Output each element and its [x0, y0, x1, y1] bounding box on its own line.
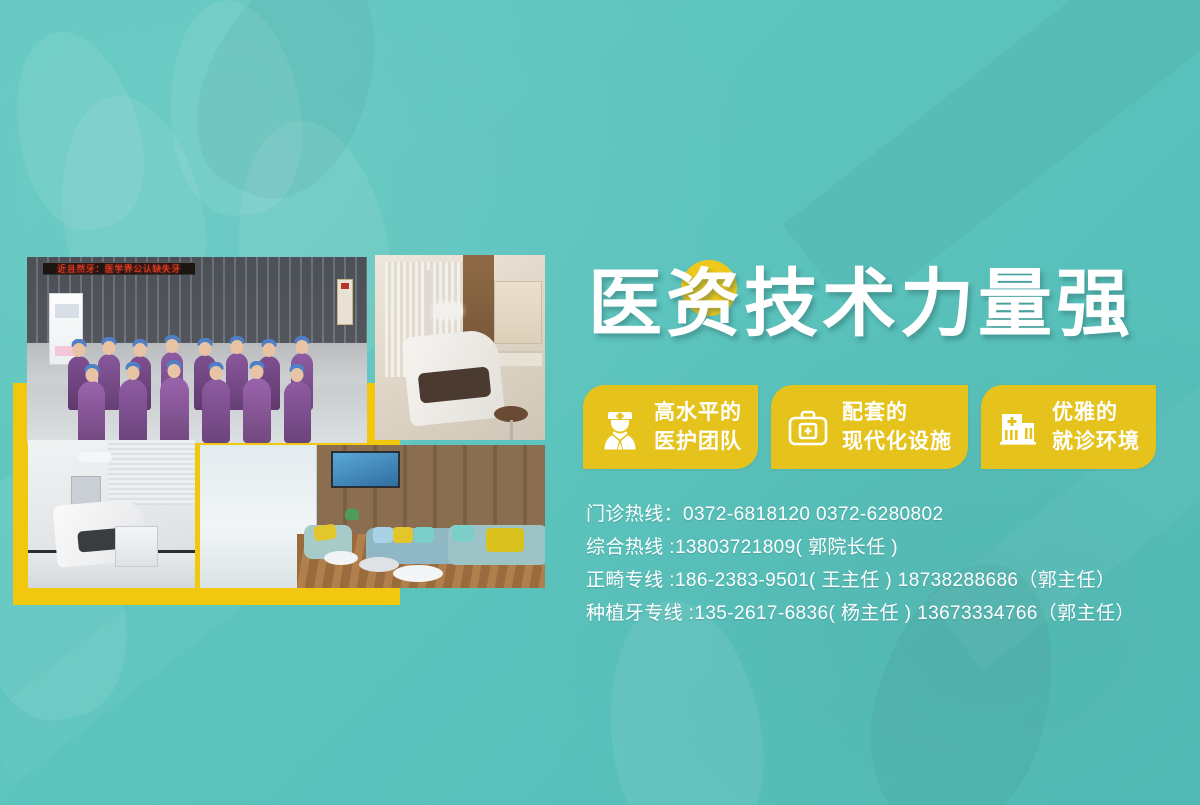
- staff-member: [78, 381, 105, 443]
- contact-line-outpatient: 门诊热线：0372-6818120 0372-6280802: [586, 498, 1186, 531]
- dental-lamp-head: [433, 303, 463, 319]
- staff-member: [160, 377, 189, 443]
- wall-cabinet: [494, 281, 542, 344]
- medical-kit-icon: [785, 402, 831, 452]
- badge-line-2: 医护团队: [654, 430, 742, 453]
- hospital-building-icon: [995, 402, 1041, 452]
- feature-badge-list: 高水平的 医护团队 配套的 现代化设施: [583, 385, 1156, 469]
- contact-line-orthodontics: 正畸专线 :186-2383-9501( 王主任 ) 18738288686（郭…: [586, 564, 1186, 597]
- cushion: [313, 524, 337, 542]
- cushion: [414, 527, 434, 543]
- photo-collage: 近且然牙：医学界公认缺失牙: [0, 0, 560, 805]
- treatment-room-photo: [28, 440, 195, 588]
- staff-front-row: [27, 361, 367, 443]
- feature-badge-environment[interactable]: 优雅的 就诊环境: [981, 385, 1156, 469]
- nurse-icon: [597, 402, 643, 452]
- coffee-table: [359, 557, 399, 572]
- potted-plant: [345, 508, 359, 520]
- badge-line-1: 高水平的: [654, 401, 742, 424]
- feature-badge-medical-team[interactable]: 高水平的 医护团队: [583, 385, 758, 469]
- cushion: [373, 527, 393, 543]
- staff-member: [243, 378, 271, 443]
- contact-line-implant: 种植牙专线 :135-2617-6836( 杨主任 ) 13673334766（…: [586, 597, 1186, 630]
- content-column: 医资技术力量强 高水平的: [578, 0, 1200, 805]
- staff-member: [119, 379, 147, 443]
- wall-tv: [331, 451, 400, 488]
- feature-badge-label: 高水平的 医护团队: [654, 398, 742, 456]
- contact-list: 门诊热线：0372-6818120 0372-6280802 综合热线 :138…: [586, 498, 1186, 630]
- cushion: [393, 527, 413, 543]
- page-title: 医资技术力量强: [588, 255, 1134, 353]
- staff-member: [284, 381, 311, 443]
- badge-line-2: 现代化设施: [842, 430, 952, 453]
- led-banner: 近且然牙：医学界公认缺失牙: [43, 262, 195, 275]
- doctor-stool: [494, 406, 528, 422]
- badge-line-1: 优雅的: [1052, 401, 1118, 424]
- badge-line-2: 就诊环境: [1052, 430, 1140, 453]
- badge-line-1: 配套的: [842, 401, 908, 424]
- dental-suite-photo: [375, 255, 545, 440]
- vertical-shop-sign: [337, 279, 353, 325]
- coffee-table: [324, 551, 358, 565]
- cushion: [486, 528, 524, 552]
- feature-badge-label: 配套的 现代化设施: [842, 398, 952, 456]
- dental-lamp-head: [78, 452, 112, 462]
- feature-badge-label: 优雅的 就诊环境: [1052, 398, 1140, 456]
- headline-block: 医资技术力量强: [588, 255, 1188, 360]
- instrument-cart: [115, 526, 158, 567]
- dental-lamp-arm: [426, 270, 430, 340]
- waiting-lounge-photo: [200, 445, 545, 588]
- window-blinds: [108, 440, 195, 505]
- contact-line-general: 综合热线 :13803721809( 郭院长任 ): [586, 531, 1186, 564]
- led-banner-text: 近且然牙：医学界公认缺失牙: [43, 263, 195, 275]
- cushion: [452, 525, 474, 542]
- clinic-promo-banner: 近且然牙：医学界公认缺失牙: [0, 0, 1200, 805]
- staff-member: [202, 379, 230, 443]
- clinic-team-photo: 近且然牙：医学界公认缺失牙: [27, 257, 367, 443]
- feature-badge-facilities[interactable]: 配套的 现代化设施: [771, 385, 968, 469]
